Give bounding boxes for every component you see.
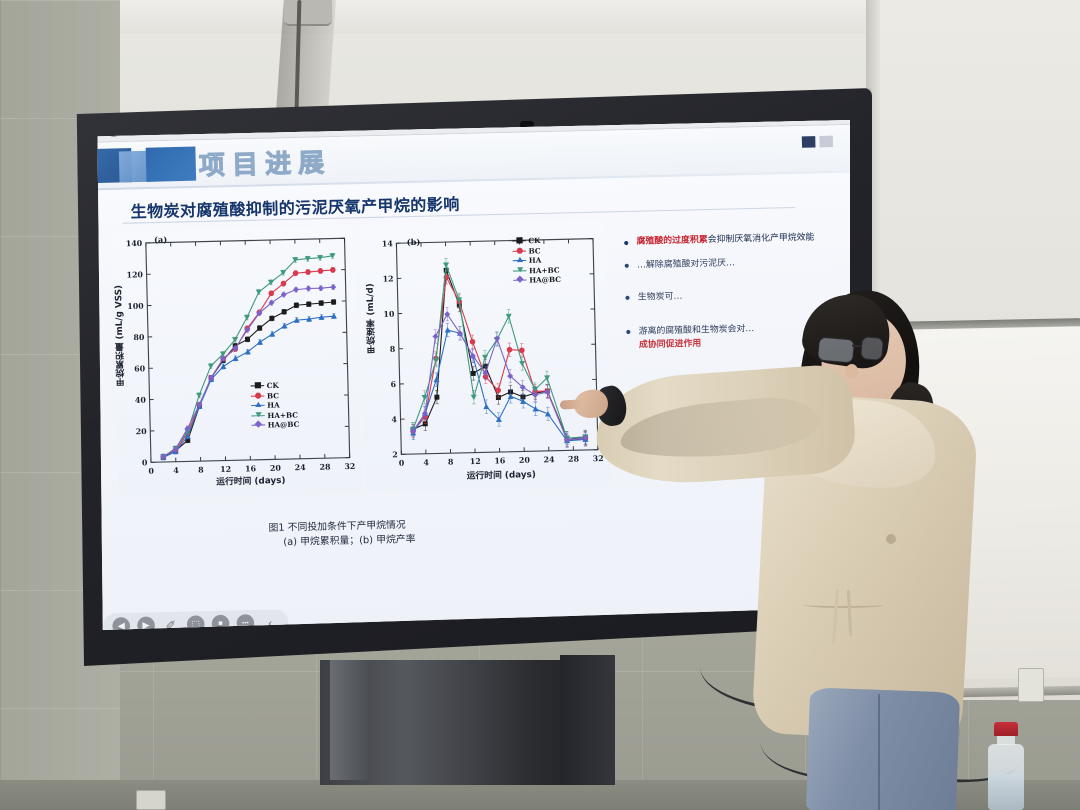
legend-line: [512, 240, 525, 242]
presenter: [590, 290, 1010, 810]
chart-b-panel-tag: (b): [407, 236, 421, 247]
svg-text:4: 4: [423, 458, 429, 467]
legend-entry-ha-bc: HA@BC: [513, 275, 561, 286]
legend-line: [251, 405, 264, 407]
legend-label: CK: [267, 381, 279, 391]
legend-line: [252, 424, 265, 426]
svg-text:12: 12: [220, 465, 231, 474]
display-stand-column-highlight: [330, 660, 370, 780]
legend-label: BC: [528, 246, 540, 256]
chart-a-legend: CKBCHAHA+BCHA@BC: [251, 380, 300, 430]
presenter-jacket-button: [886, 534, 896, 544]
presenter-jeans: [806, 687, 960, 810]
legend-marker-triangle-up: [516, 257, 522, 262]
svg-text:12: 12: [470, 457, 481, 466]
previous-slide-button[interactable]: ◀: [112, 617, 130, 630]
legend-label: BC: [267, 391, 279, 401]
banner-title: 项目进展: [198, 142, 331, 182]
banner-decoration: [96, 146, 213, 184]
legend-marker-diamond: [254, 421, 261, 428]
svg-text:0: 0: [399, 459, 405, 468]
svg-text:40: 40: [135, 396, 147, 405]
legend-line: [513, 260, 526, 262]
svg-text:140: 140: [126, 239, 143, 248]
wall-socket-right: [1018, 668, 1044, 702]
presenter-glasses-left-lens: [817, 336, 855, 363]
presenter-jeans-seam: [878, 694, 880, 810]
ceiling-vent: [284, 0, 332, 26]
legend-label: HA@BC: [529, 275, 561, 285]
legend-marker-circle: [516, 247, 522, 253]
svg-text:16: 16: [494, 456, 506, 465]
svg-text:20: 20: [519, 456, 531, 465]
bullet-text: …解除腐殖酸对污泥厌…: [637, 258, 735, 271]
svg-text:14: 14: [382, 239, 394, 248]
bottle-water: [988, 774, 1024, 810]
legend-marker-square: [516, 238, 522, 244]
svg-text:4: 4: [173, 466, 179, 475]
legend-entry-ha-bc: HA@BC: [251, 419, 299, 430]
svg-text:28: 28: [319, 462, 331, 471]
legend-label: CK: [528, 236, 540, 246]
presenter-glasses-right-lens: [860, 336, 884, 361]
svg-text:6: 6: [391, 380, 397, 389]
legend-marker-square: [254, 383, 260, 389]
chart-b-plot: 0481216202428322468101214: [359, 220, 612, 493]
chart-a-panel-tag: (a): [154, 234, 167, 245]
presenter-jacket-hem: [804, 602, 884, 608]
svg-text:100: 100: [127, 302, 144, 311]
svg-text:16: 16: [245, 464, 257, 473]
slide-bullet-1: 腐殖酸的过度积累会抑制厌氧消化产甲烷效能: [622, 230, 850, 249]
svg-text:0: 0: [148, 467, 154, 476]
legend-marker-circle: [254, 392, 260, 398]
svg-text:32: 32: [344, 462, 355, 471]
figure-caption: 图1 不同投加条件下产甲烷情况 (a) 甲烷累积量；(b) 甲烷产率: [268, 514, 610, 551]
svg-text:120: 120: [126, 270, 143, 279]
chart-panel-b: 甲烷速率 (mL/d) (b) 048121620242832246810121…: [359, 220, 612, 493]
slide-heading: 生物炭对腐殖酸抑制的污泥厌氧产甲烷的影响: [130, 184, 813, 223]
svg-text:20: 20: [136, 427, 148, 436]
legend-line: [251, 385, 264, 387]
svg-text:80: 80: [133, 333, 145, 342]
svg-text:4: 4: [391, 415, 397, 424]
presenter-pointing-finger: [560, 399, 582, 409]
corner-square-dark: [802, 136, 816, 148]
svg-text:8: 8: [390, 345, 396, 354]
bottle-cap: [994, 722, 1018, 736]
chart-a-y-axis-label: 甲烷累积量 (mL/g VSS): [113, 285, 128, 387]
chart-b-y-axis-label: 甲烷速率 (mL/d): [364, 283, 378, 354]
svg-text:8: 8: [448, 457, 454, 466]
svg-text:24: 24: [543, 455, 555, 464]
water-bottle: [985, 722, 1027, 810]
legend-line: [251, 395, 264, 397]
svg-text:8: 8: [198, 465, 204, 474]
svg-text:60: 60: [134, 364, 146, 373]
legend-label: HA@BC: [268, 420, 300, 430]
svg-text:24: 24: [295, 463, 307, 472]
legend-marker-triangle-down: [517, 267, 523, 272]
bottle-neck: [997, 735, 1015, 745]
bullet-highlight: 腐殖酸的过度积累: [636, 235, 707, 247]
legend-label: HA: [529, 256, 542, 266]
legend-marker-diamond: [516, 276, 523, 283]
legend-line: [513, 250, 526, 252]
svg-text:10: 10: [383, 310, 395, 319]
bullet-text: 会抑制厌氧消化产甲烷效能: [708, 232, 815, 245]
svg-text:0: 0: [142, 458, 148, 467]
figure-charts: 甲烷累积量 (mL/g VSS) (a) 0481216202428320204…: [102, 220, 615, 501]
legend-marker-triangle-up: [255, 402, 261, 407]
wall-socket-left: [136, 790, 166, 810]
chart-a-plot: 048121620242832020406080100120140: [112, 226, 361, 499]
legend-label: HA: [267, 401, 280, 411]
legend-line: [513, 270, 526, 272]
chart-panel-a: 甲烷累积量 (mL/g VSS) (a) 0481216202428320204…: [112, 226, 361, 499]
corner-square-light: [819, 136, 833, 148]
svg-text:20: 20: [270, 464, 282, 473]
next-slide-button[interactable]: ▶: [137, 616, 155, 630]
legend-marker-triangle-down: [255, 412, 261, 417]
legend-line: [251, 415, 264, 417]
legend-label: HA+BC: [267, 410, 298, 420]
svg-text:28: 28: [568, 455, 580, 464]
svg-text:12: 12: [383, 274, 394, 283]
svg-text:2: 2: [392, 450, 398, 459]
slide-bullet-2: …解除腐殖酸对污泥厌…: [622, 254, 850, 273]
legend-label: HA+BC: [529, 265, 560, 275]
legend-line: [513, 280, 526, 282]
chart-b-legend: CKBCHAHA+BCHA@BC: [512, 235, 561, 285]
